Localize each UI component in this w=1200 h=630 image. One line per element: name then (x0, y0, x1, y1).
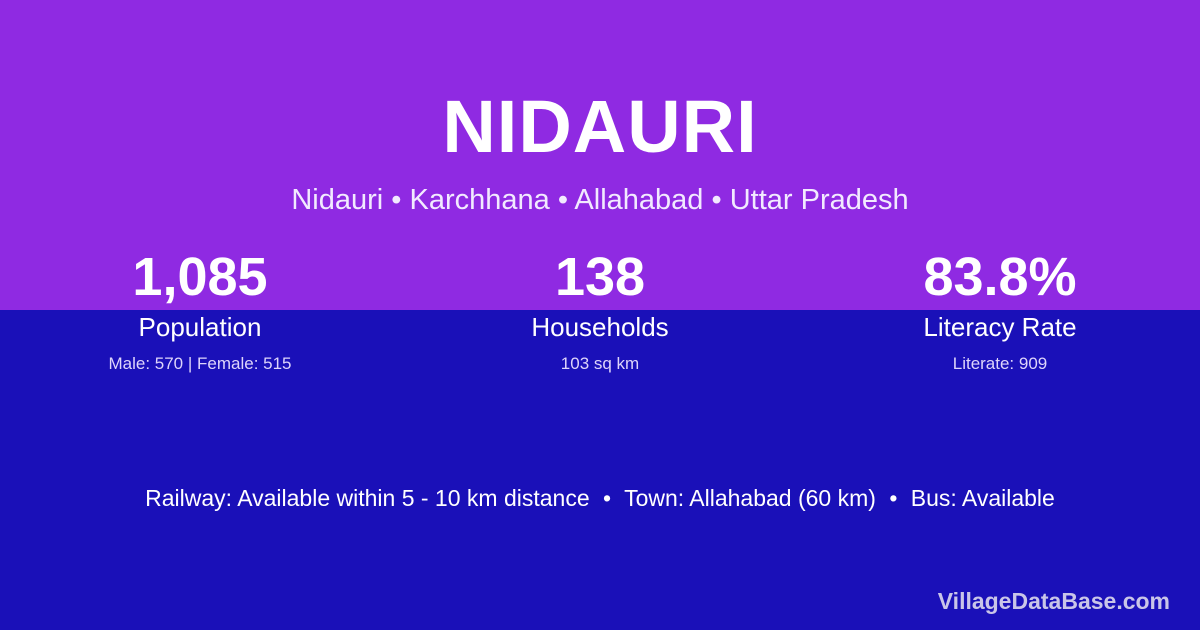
facilities-line: Railway: Available within 5 - 10 km dist… (0, 482, 1200, 514)
facility-bus: Bus: Available (911, 485, 1055, 511)
facility-railway: Railway: Available within 5 - 10 km dist… (145, 485, 589, 511)
stat-population-value: 1,085 (0, 246, 400, 308)
stat-literacy-rate: 83.8% Literacy Rate Literate: 909 (800, 246, 1200, 376)
facility-separator-2: • (882, 485, 904, 511)
page-title: NIDAURI (0, 84, 1200, 170)
stat-households: 138 Households 103 sq km (400, 246, 800, 376)
card-content: NIDAURI Nidauri • Karchhana • Allahabad … (0, 0, 1200, 630)
stat-households-sub: 103 sq km (400, 352, 800, 376)
stat-population-label: Population (0, 310, 400, 344)
stat-literacy-rate-sub: Literate: 909 (800, 352, 1200, 376)
stat-literacy-rate-value: 83.8% (800, 246, 1200, 308)
village-info-card: NIDAURI Nidauri • Karchhana • Allahabad … (0, 0, 1200, 630)
facility-town: Town: Allahabad (60 km) (624, 485, 876, 511)
stat-households-value: 138 (400, 246, 800, 308)
stat-population: 1,085 Population Male: 570 | Female: 515 (0, 246, 400, 376)
facility-separator-1: • (596, 485, 618, 511)
stats-row: 1,085 Population Male: 570 | Female: 515… (0, 246, 1200, 376)
stat-households-label: Households (400, 310, 800, 344)
site-brand: VillageDataBase.com (938, 586, 1170, 616)
breadcrumb: Nidauri • Karchhana • Allahabad • Uttar … (0, 182, 1200, 218)
stat-literacy-rate-label: Literacy Rate (800, 310, 1200, 344)
stat-population-sub: Male: 570 | Female: 515 (0, 352, 400, 376)
